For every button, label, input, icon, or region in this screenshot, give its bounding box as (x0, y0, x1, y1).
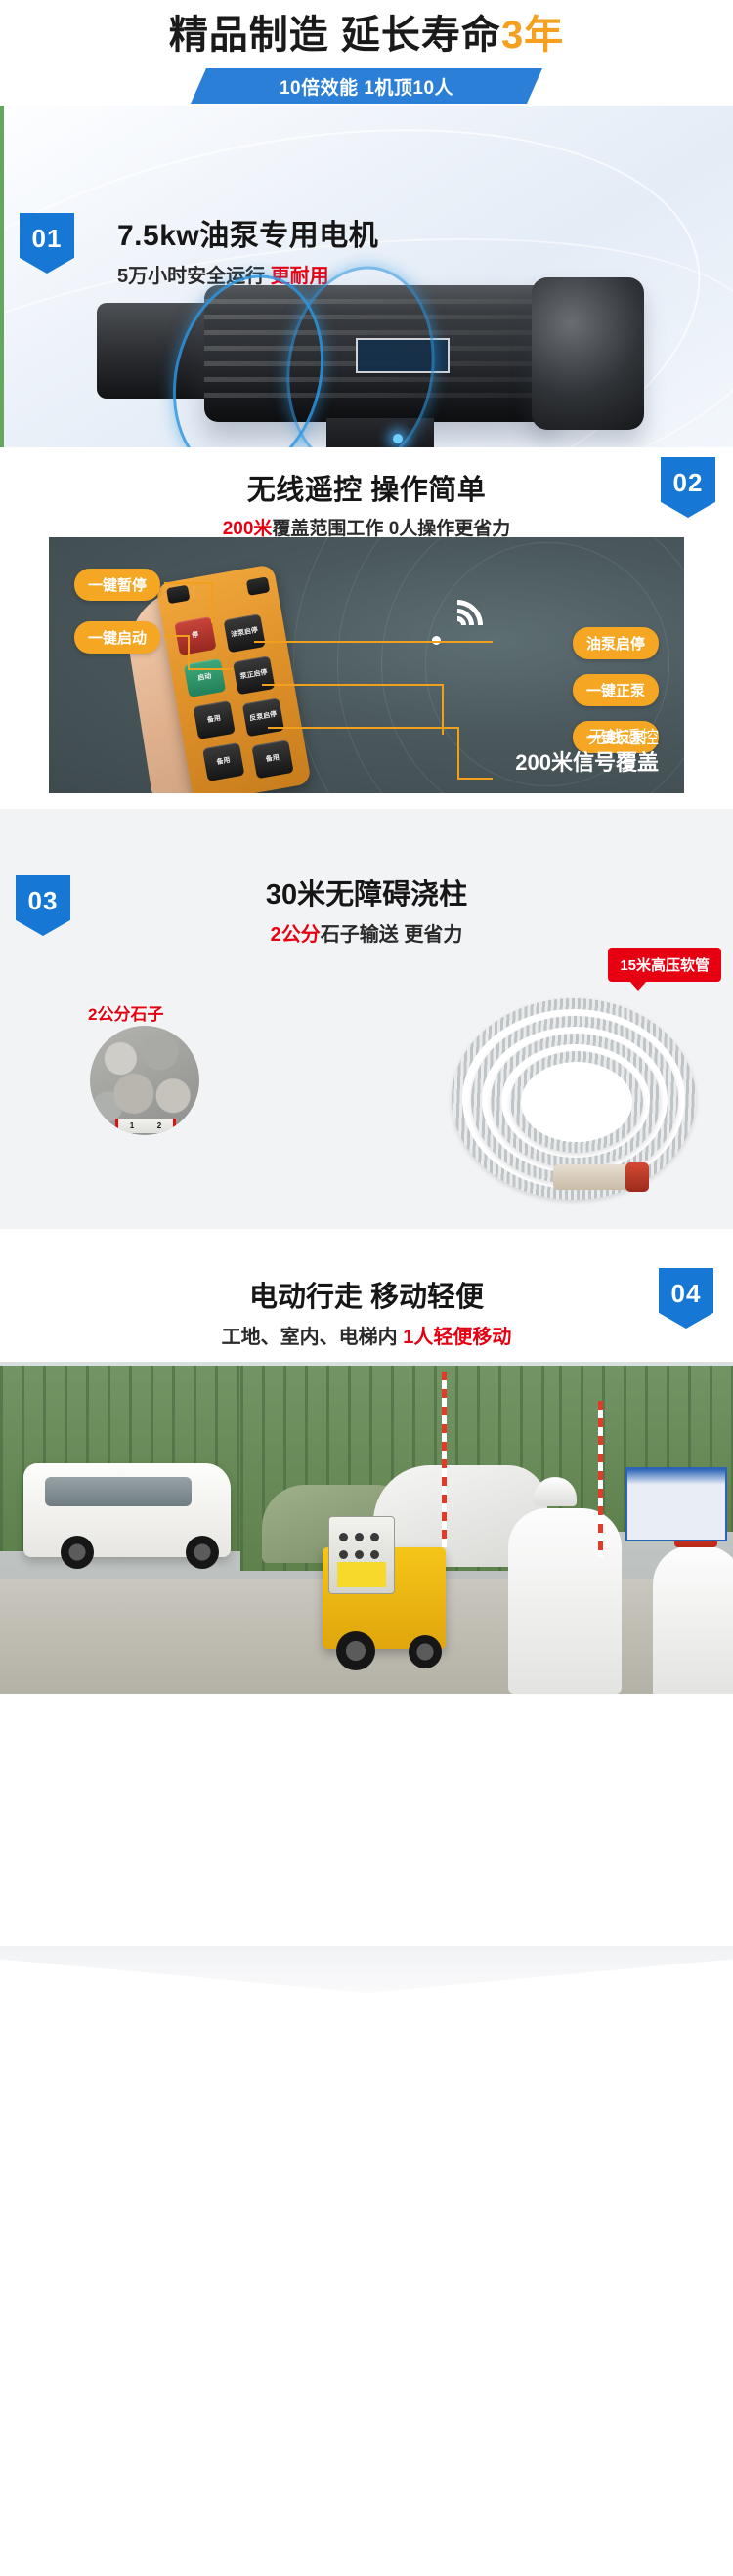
section-03-subtitle: 2公分石子输送 更省力 (0, 918, 733, 947)
section-04-mobility: 电动行走 移动轻便 工地、室内、电梯内 1人轻便移动 04 (0, 1229, 733, 1708)
ruler-mark-1: 1 (130, 1121, 134, 1130)
section-02-remote-control: 无线遥控 操作简单 200米覆盖范围工作 0人操作更省力 02 停 油泵启停 启… (0, 447, 733, 809)
leader-line (164, 635, 190, 637)
callout-start: 一键启动 (74, 621, 160, 654)
ruler-mark-2: 2 (157, 1121, 161, 1130)
leader-line (262, 684, 444, 686)
section-04-heading: 电动行走 移动轻便 (0, 1274, 733, 1315)
motor-end-cap (532, 277, 644, 430)
remote-key-spare-2[interactable]: 备用 (202, 742, 244, 781)
section-01-motor: 01 7.5kw油泵专用电机 5万小时安全运行 更耐用 (0, 106, 733, 447)
machine-wheel (409, 1635, 442, 1668)
section-04-subtitle-plain: 工地、室内、电梯内 (222, 1327, 404, 1348)
section-03-hose: 03 30米无障碍浇柱 2公分石子输送 更省力 2公分石子 1 2 15米高压软… (0, 809, 733, 1229)
section-01-heading: 7.5kw油泵专用电机 (117, 211, 378, 254)
worker-center (508, 1508, 622, 1694)
hose-length-badge: 15米高压软管 (608, 948, 721, 982)
hero-ribbon: 10倍效能 1机顶10人 (191, 68, 542, 104)
blue-led-spark-icon (393, 434, 403, 443)
section-number-badge: 02 (661, 457, 715, 518)
section-02-subtitle-plain: 覆盖范围工作 0人操作更省力 (272, 519, 510, 539)
worker-right (653, 1545, 733, 1694)
hose-coupler (553, 1164, 637, 1190)
control-panel-box (328, 1516, 395, 1594)
motor-photo (4, 252, 733, 447)
leader-line (268, 727, 459, 729)
remote-control-photo: 停 油泵启停 启动 泵正启停 备用 反泵启停 备用 备用 一键暂停 一键启动 油… (49, 537, 684, 793)
leader-line (188, 668, 233, 670)
hose-photo (438, 992, 710, 1207)
section-03-subtitle-plain: 石子输送 更省力 (321, 924, 463, 946)
section-03-heading: 30米无障碍浇柱 (0, 871, 733, 912)
leader-line (254, 641, 493, 643)
section-02-subtitle: 200米覆盖范围工作 0人操作更省力 (0, 514, 733, 540)
safety-notice-board (625, 1467, 727, 1541)
section-02-heading: 无线遥控 操作简单 (0, 467, 733, 508)
remote-key-pump-toggle[interactable]: 油泵启停 (224, 613, 266, 653)
van-wheel (61, 1536, 94, 1569)
section-02-corner-caption: 无线遥控 200米信号覆盖 (515, 727, 659, 778)
section-03-text: 30米无障碍浇柱 2公分石子输送 更省力 (0, 871, 733, 947)
corner-caption-line1: 无线遥控 (515, 727, 659, 749)
leader-line (457, 727, 459, 780)
section-04-subtitle-highlight: 1人轻便移动 (403, 1327, 511, 1348)
van-wheel (186, 1536, 219, 1569)
striped-pole (442, 1372, 447, 1547)
leader-line (188, 635, 190, 670)
section-number-badge: 04 (659, 1268, 713, 1329)
hero-header: 精品制造 延长寿命3年 10倍效能 1机顶10人 (0, 0, 733, 106)
callout-pump-toggle: 油泵启停 (573, 627, 659, 659)
remote-key-forward[interactable]: 泵正启停 (233, 655, 275, 695)
page-title-main: 精品制造 延长寿命 (169, 14, 501, 57)
section-04-subtitle: 工地、室内、电梯内 1人轻便移动 (0, 1321, 733, 1349)
callout-pause: 一键暂停 (74, 569, 160, 601)
page-title: 精品制造 延长寿命3年 (0, 8, 733, 63)
product-detail-page: 精品制造 延长寿命3年 10倍效能 1机顶10人 01 7.5kw油泵专用电机 … (0, 0, 733, 2576)
page-title-accent: 3年 (501, 14, 564, 57)
striped-pole (598, 1401, 603, 1557)
construction-site-photo (0, 1362, 733, 1694)
section-02-subtitle-highlight: 200米 (223, 519, 273, 539)
warning-sticker (337, 1562, 386, 1587)
gravel-label: 2公分石子 (88, 1000, 163, 1025)
remote-key-spare-1[interactable]: 备用 (193, 700, 235, 739)
section-03-subtitle-highlight: 2公分 (271, 924, 321, 946)
gravel-photo: 1 2 (90, 1026, 199, 1135)
leader-line (211, 582, 213, 623)
hero-ribbon-label: 10倍效能 1机顶10人 (280, 73, 453, 100)
leader-line (164, 582, 213, 584)
wifi-signal-icon (430, 598, 485, 647)
section-divider-wedge (0, 1946, 733, 1993)
remote-key-start[interactable]: 启动 (184, 658, 226, 697)
remote-key-reverse[interactable]: 反泵启停 (242, 697, 284, 737)
section-02-badge-wrapper: 02 (661, 457, 715, 518)
leader-line (457, 778, 493, 780)
ruler-scale: 1 2 (115, 1119, 176, 1133)
section-02-text: 无线遥控 操作简单 200米覆盖范围工作 0人操作更省力 (0, 467, 733, 540)
section-04-text: 电动行走 移动轻便 工地、室内、电梯内 1人轻便移动 (0, 1274, 733, 1349)
machine-wheel (336, 1631, 375, 1670)
corner-caption-line2: 200米信号覆盖 (515, 749, 659, 778)
callout-forward-pump: 一键正泵 (573, 674, 659, 706)
section-04-badge-wrapper: 04 (659, 1268, 713, 1329)
remote-key-spare-3[interactable]: 备用 (251, 739, 293, 779)
